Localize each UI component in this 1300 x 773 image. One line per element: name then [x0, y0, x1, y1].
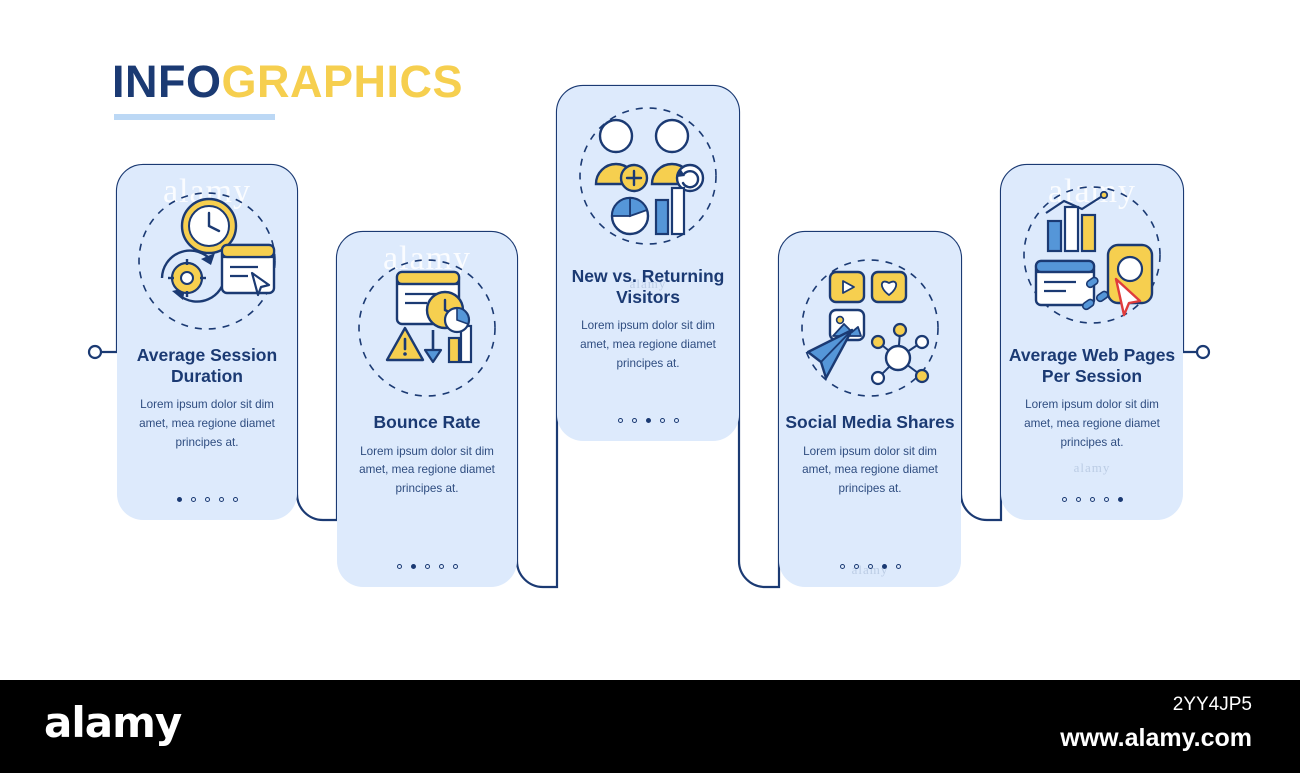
card-average-web-pages-per-session[interactable]: alamy alamy [1001, 165, 1183, 520]
dot-3[interactable] [646, 418, 651, 423]
footer-bar: alamy 2YY4JP5 www.alamy.com [0, 680, 1300, 773]
charts-cursor-pages-icon [1012, 183, 1172, 343]
card-title: Bounce Rate [368, 412, 487, 433]
share-network-media-icon [790, 250, 950, 410]
progress-dots[interactable] [779, 564, 961, 569]
card-description: Lorem ipsum dolor sit dim amet, mea regi… [1001, 396, 1183, 452]
infographic-canvas: INFOGRAPHICS alamy [0, 0, 1300, 680]
dot-3[interactable] [205, 497, 210, 502]
dot-4[interactable] [439, 564, 444, 569]
page-title-part-1: INFO [112, 56, 222, 107]
image-id: 2YY4JP5 [1173, 694, 1252, 716]
alamy-logo: alamy [44, 698, 181, 747]
dot-4[interactable] [219, 497, 224, 502]
dot-3[interactable] [425, 564, 430, 569]
dot-4[interactable] [882, 564, 887, 569]
dot-3[interactable] [1090, 497, 1095, 502]
dot-1[interactable] [397, 564, 402, 569]
dot-3[interactable] [868, 564, 873, 569]
dot-5[interactable] [674, 418, 679, 423]
card-title: New vs. Returning Visitors [557, 266, 739, 307]
clock-refresh-browser-icon [127, 183, 287, 343]
progress-dots[interactable] [1001, 497, 1183, 502]
dot-1[interactable] [840, 564, 845, 569]
footer-url: www.alamy.com [1060, 724, 1252, 753]
dot-2[interactable] [632, 418, 637, 423]
dot-2[interactable] [191, 497, 196, 502]
dot-5[interactable] [896, 564, 901, 569]
dot-2[interactable] [1076, 497, 1081, 502]
card-description: Lorem ipsum dolor sit dim amet, mea regi… [557, 317, 739, 373]
card-new-vs-returning-visitors[interactable]: alamy [557, 86, 739, 441]
dot-5[interactable] [1118, 497, 1123, 502]
card-title: Average Session Duration [117, 345, 297, 386]
progress-dots[interactable] [337, 564, 517, 569]
warning-browser-chart-icon [347, 250, 507, 410]
dot-1[interactable] [618, 418, 623, 423]
title-underline [114, 114, 275, 120]
card-description: Lorem ipsum dolor sit dim amet, mea regi… [117, 396, 297, 452]
dot-4[interactable] [660, 418, 665, 423]
card-average-session-duration[interactable]: alamy [117, 165, 297, 520]
watermark-text-small: alamy [1001, 460, 1183, 476]
dot-1[interactable] [177, 497, 182, 502]
card-bounce-rate[interactable]: alamy [337, 232, 517, 587]
progress-dots[interactable] [117, 497, 297, 502]
users-add-refresh-chart-icon [568, 104, 728, 264]
dot-2[interactable] [411, 564, 416, 569]
card-title: Average Web Pages Per Session [1001, 345, 1183, 386]
dot-5[interactable] [233, 497, 238, 502]
dot-2[interactable] [854, 564, 859, 569]
page-title: INFOGRAPHICS [112, 56, 463, 108]
card-description: Lorem ipsum dolor sit dim amet, mea regi… [779, 443, 961, 499]
dot-1[interactable] [1062, 497, 1067, 502]
dot-5[interactable] [453, 564, 458, 569]
dot-4[interactable] [1104, 497, 1109, 502]
card-description: Lorem ipsum dolor sit dim amet, mea regi… [337, 443, 517, 499]
progress-dots[interactable] [557, 418, 739, 423]
page-title-part-2: GRAPHICS [222, 56, 464, 107]
card-title: Social Media Shares [779, 412, 960, 433]
card-social-media-shares[interactable]: alamy [779, 232, 961, 587]
